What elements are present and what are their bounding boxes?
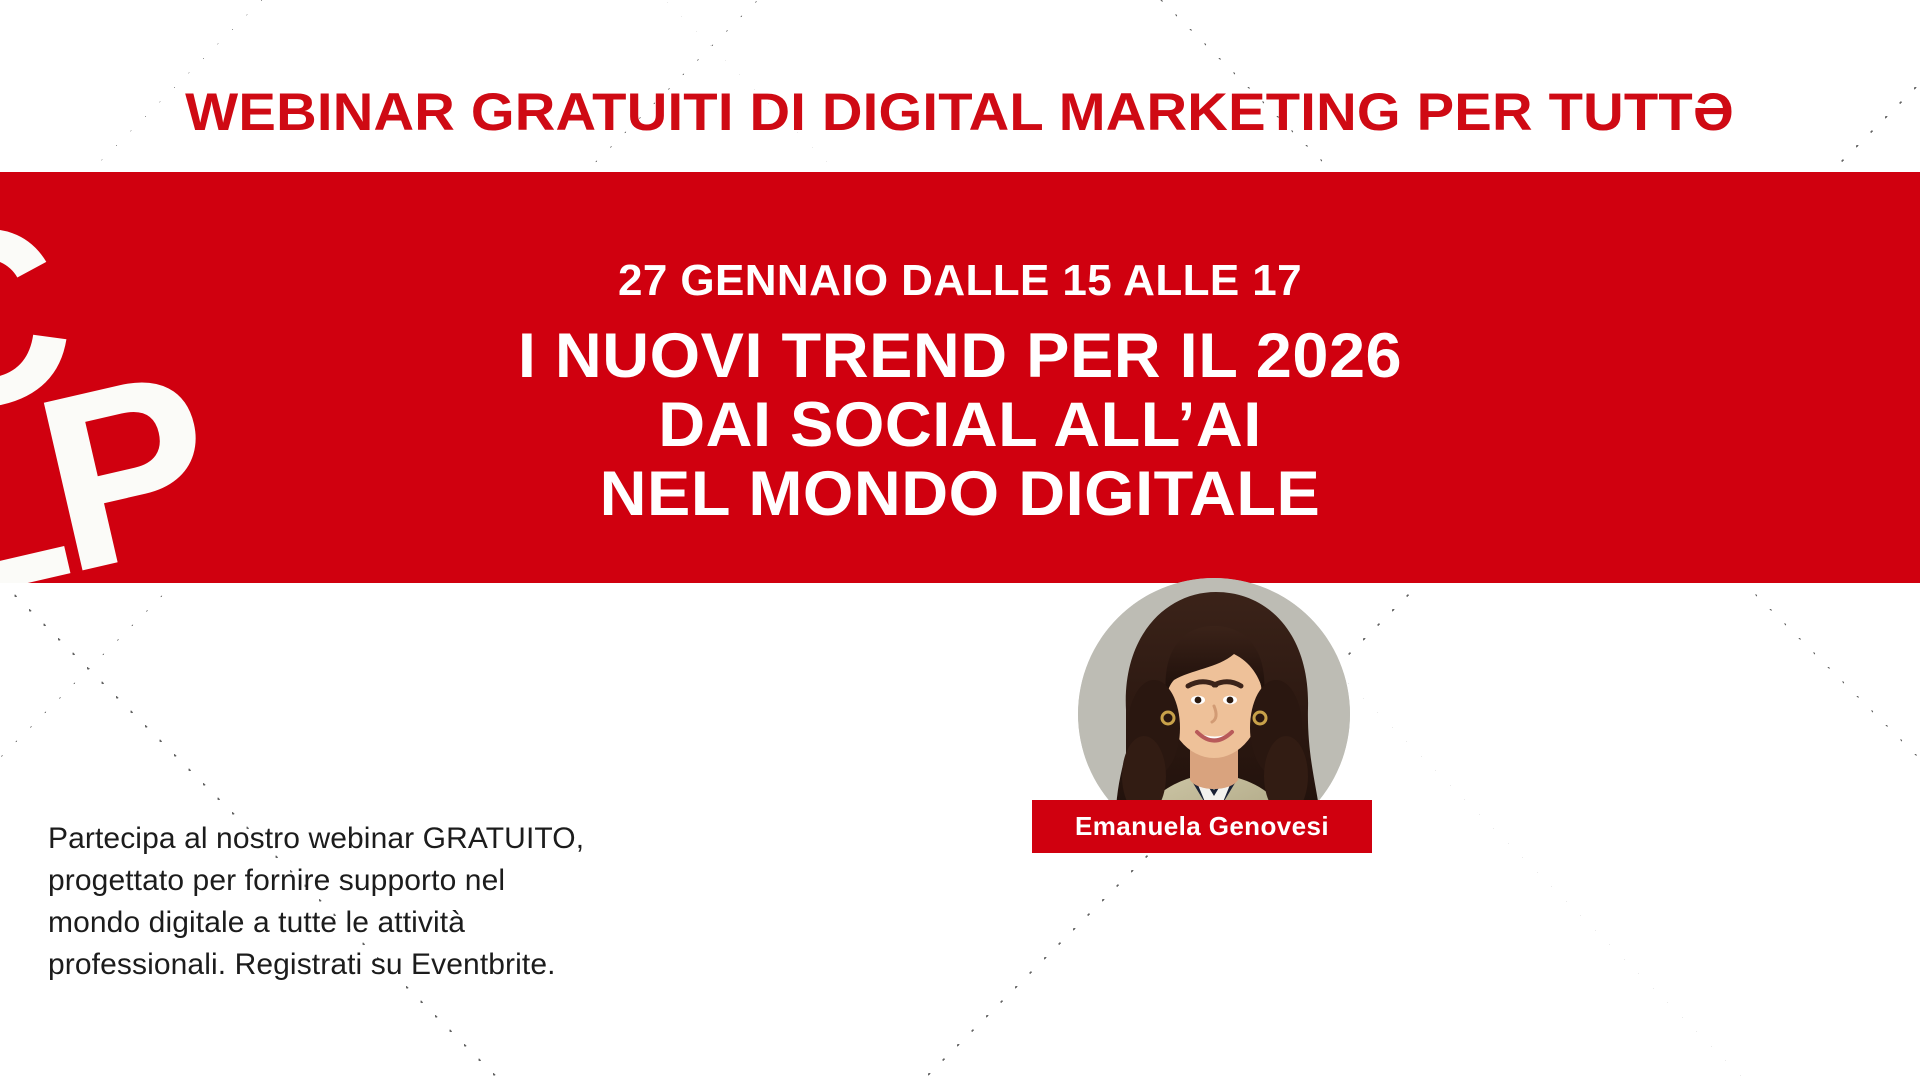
red-banner: C LP 27 GENNAIO DALLE 15 ALLE 17 I NUOVI… [0, 172, 1920, 583]
headline-line-1: I NUOVI TREND PER IL 2026 [0, 325, 1920, 388]
poster-title-container: WEBINAR GRATUITI DI DIGITAL MARKETING PE… [0, 86, 1920, 139]
description-line-1: Partecipa al nostro webinar GRATUITO, [48, 818, 808, 860]
event-date-time: 27 GENNAIO DALLE 15 ALLE 17 [0, 256, 1920, 306]
description-text: Partecipa al nostro webinar GRATUITO, pr… [48, 818, 808, 986]
red-banner-inner: C LP 27 GENNAIO DALLE 15 ALLE 17 I NUOVI… [0, 172, 1920, 583]
description-line-4: professionali. Registrati su Eventbrite. [48, 944, 808, 986]
headline-line-2: DAI SOCIAL ALL’AI [0, 394, 1920, 457]
poster-title: WEBINAR GRATUITI DI DIGITAL MARKETING PE… [186, 86, 1735, 139]
speaker-name-badge: Emanuela Genovesi [1032, 800, 1372, 853]
headline-line-3: NEL MONDO DIGITALE [0, 463, 1920, 526]
webinar-promo-poster: WEBINAR GRATUITI DI DIGITAL MARKETING PE… [0, 0, 1920, 1080]
description-line-2: progettato per fornire supporto nel [48, 860, 808, 902]
event-headline: I NUOVI TREND PER IL 2026 DAI SOCIAL ALL… [0, 325, 1920, 532]
description-line-3: mondo digitale a tutte le attività [48, 902, 808, 944]
